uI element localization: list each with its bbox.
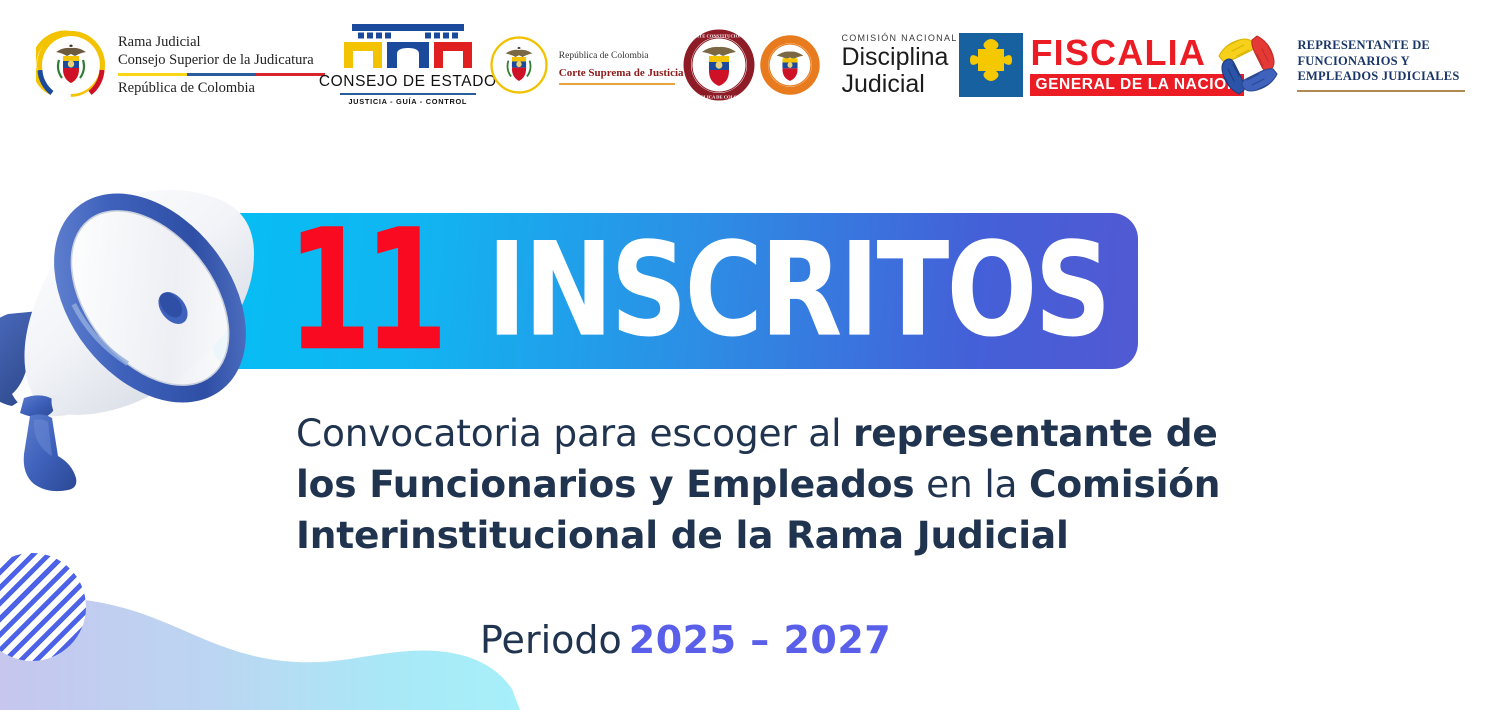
inscritos-label: INSCRITOS <box>487 235 1109 347</box>
seal-bottom-text: REPÚBLICA DE COLOMBIA <box>688 95 750 100</box>
hands-pinwheel-icon <box>1209 26 1287 104</box>
headline-line-3-bold: Interinstitucional de la Rama Judicial <box>296 513 1069 557</box>
headline-line-1: Convocatoria para escoger al representan… <box>296 408 1456 459</box>
logo-line-3: Judicial <box>841 71 976 98</box>
logo-line-1: República de Colombia <box>559 51 649 61</box>
corte-constitucional-seal-icon: CORTE CONSTITUCIONAL REPÚBLICA DE COLOMB… <box>682 28 756 102</box>
logo-representante-text: REPRESENTANTE DE FUNCIONARIOS Y EMPLEADO… <box>1297 38 1465 92</box>
logo-line-1: REPRESENTANTE DE <box>1297 38 1465 54</box>
logo-line-1: COMISIÓN NACIONAL DE <box>841 33 976 44</box>
headline-line-3: Interinstitucional de la Rama Judicial <box>296 510 1456 561</box>
logo-consejo-de-estado: CONSEJO DE ESTADO JUSTICIA - GUÍA - CONT… <box>328 22 488 108</box>
fiscalia-puzzle-icon <box>959 33 1023 97</box>
headline: Convocatoria para escoger al representan… <box>296 408 1456 561</box>
logo-disciplina-judicial-text: COMISIÓN NACIONAL DE Disciplina Judicial <box>841 33 976 98</box>
periodo-line: Periodo2025 – 2027 <box>480 617 891 663</box>
logo-line-1: Rama Judicial <box>118 34 201 50</box>
consejo-de-estado-arch-icon <box>338 24 478 72</box>
logo-rama-judicial: Rama Judicial Consejo Superior de la Jud… <box>0 22 328 108</box>
banner-content: 11 INSCRITOS <box>212 213 1138 369</box>
periodo-label: Periodo <box>480 618 622 662</box>
tricolor-rule <box>118 73 325 76</box>
seal-top-text: CORTE CONSTITUCIONAL <box>689 34 749 39</box>
headline-line-2-plain: en la <box>914 462 1029 506</box>
inscritos-banner: 11 INSCRITOS <box>212 213 1138 369</box>
logo-fiscalia: FISCALIA GENERAL DE LA NACION <box>959 22 1209 108</box>
colombia-coat-of-arms-icon <box>488 34 550 96</box>
logo-corte-suprema-text: República de Colombia Corte Suprema de J… <box>559 45 684 85</box>
divider <box>559 83 675 85</box>
logo-corte-suprema: República de Colombia Corte Suprema de J… <box>488 22 678 108</box>
colombia-coat-of-arms-icon <box>36 30 106 100</box>
divider <box>340 93 476 95</box>
headline-line-2-bold-b: Comisión <box>1029 462 1220 506</box>
disciplina-judicial-seal-icon <box>759 34 821 96</box>
logo-corte-constitucional: CORTE CONSTITUCIONAL REPÚBLICA DE COLOMB… <box>678 22 760 108</box>
logo-rama-judicial-text: Rama Judicial Consejo Superior de la Jud… <box>118 33 325 97</box>
logo-line-2: FUNCIONARIOS Y <box>1297 54 1465 70</box>
headline-line-1-plain: Convocatoria para escoger al <box>296 411 853 455</box>
inscritos-count: 11 <box>287 226 440 356</box>
institution-logo-strip: Rama Judicial Consejo Superior de la Jud… <box>0 0 1502 130</box>
headline-line-2-bold-a: los Funcionarios y Empleados <box>296 462 914 506</box>
logo-representante-funcionarios: REPRESENTANTE DE FUNCIONARIOS Y EMPLEADO… <box>1209 22 1502 108</box>
headline-line-1-bold: representante de <box>853 411 1218 455</box>
logo-line-3: República de Colombia <box>118 80 255 96</box>
divider <box>1297 90 1465 93</box>
logo-line-subtitle: JUSTICIA - GUÍA - CONTROL <box>348 97 467 106</box>
periodo-years: 2025 – 2027 <box>629 618 891 662</box>
logo-line-name: CONSEJO DE ESTADO <box>319 73 497 91</box>
logo-line-2: Consejo Superior de la Judicatura <box>118 52 314 68</box>
headline-line-2: los Funcionarios y Empleados en la Comis… <box>296 459 1456 510</box>
poster-canvas: Rama Judicial Consejo Superior de la Jud… <box>0 0 1502 710</box>
logo-line-2: Corte Suprema de Justicia <box>559 67 684 79</box>
logo-line-3: EMPLEADOS JUDICIALES <box>1297 69 1465 85</box>
logo-line-2: Disciplina <box>841 44 976 71</box>
logo-disciplina-judicial: COMISIÓN NACIONAL DE Disciplina Judicial <box>759 22 959 108</box>
